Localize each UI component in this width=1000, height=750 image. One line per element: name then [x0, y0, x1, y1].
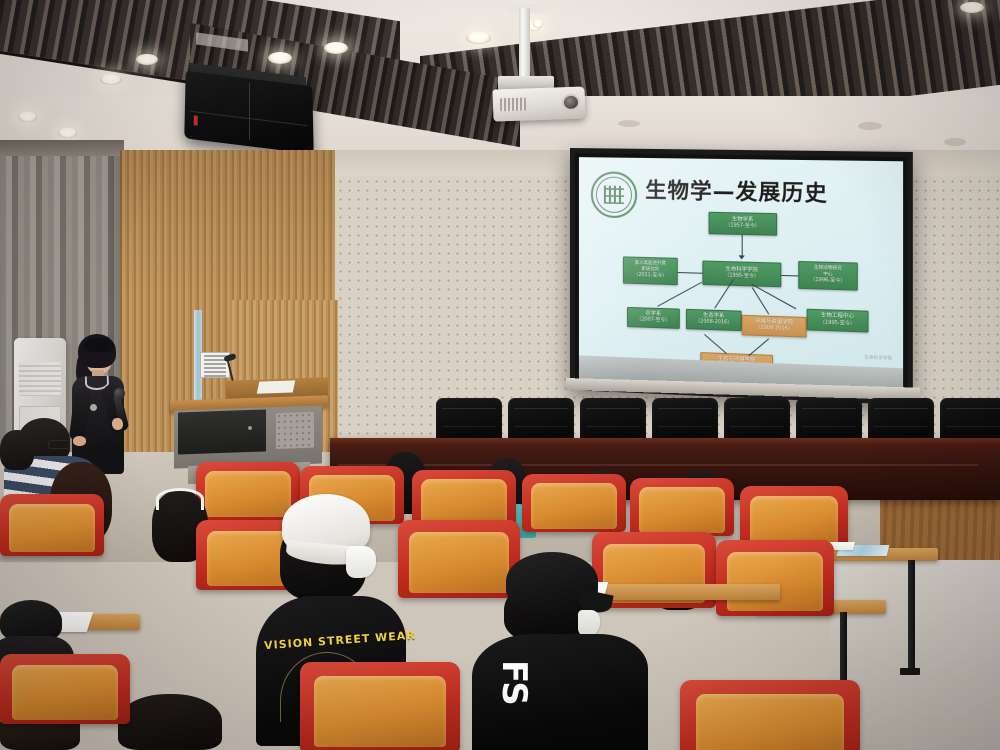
downlight-icon [533, 20, 543, 28]
presenter-badge [90, 404, 97, 411]
podium [170, 377, 328, 475]
projection-screen: 生物学—发展历史 生物学系 （1957-至今） 生命科学学院 （1995-至今）… [570, 148, 913, 405]
auditorium-seat [522, 474, 626, 532]
diagram-node-n6: 生态学系 （2008-2016） [686, 309, 742, 331]
auditorium-seat [630, 478, 734, 536]
downlight-icon [100, 74, 122, 85]
diagram-node-n7: 环境与资源学院 （2008-2016） [742, 315, 807, 338]
node-years: （2007-至今） [637, 318, 671, 326]
diagram-node-n1: 生物学系 （1957-至今） [709, 212, 778, 236]
node-label: 生物动物研究 中心 [814, 265, 842, 279]
arrow-n6-n9 [704, 334, 727, 354]
projector-pole [519, 8, 530, 80]
node-years: （1995-至今） [820, 320, 855, 328]
arrow-n5-n2 [657, 282, 702, 307]
arrow-n4-n2 [781, 275, 798, 277]
audience-member-a1b [0, 430, 34, 470]
audience-member-a2b [400, 455, 440, 505]
slide-credit: 生命科学学院 [864, 354, 892, 361]
arrow-n3-n2 [678, 272, 703, 274]
audience-member-a7: FS [482, 548, 642, 750]
downlight-icon [58, 128, 77, 138]
downlight-icon [18, 112, 37, 122]
projector-lens [562, 94, 581, 112]
ceiling-fixture-icon [858, 122, 882, 130]
lecture-hall-photo: 生物学—发展历史 生物学系 （1957-至今） 生命科学学院 （1995-至今）… [0, 0, 1000, 750]
node-years: （2008-2016） [695, 320, 732, 328]
downlight-icon [960, 2, 984, 13]
auditorium-seat [0, 654, 130, 724]
downlight-icon [268, 52, 292, 64]
node-years: （1995-至今） [724, 274, 758, 282]
node-years: （2008-2016） [755, 326, 792, 334]
auditorium-seat [680, 680, 860, 750]
face-mask-icon [346, 546, 376, 578]
ceiling [0, 0, 1000, 160]
headband-icon [156, 488, 204, 510]
node-years: （2011-至今） [633, 273, 667, 281]
diagram-node-n5: 农学系 （2007-至今） [627, 307, 680, 329]
downlight-icon [324, 42, 348, 54]
projector-icon [492, 86, 585, 121]
auditorium-seat [0, 494, 104, 556]
curtain-rail [0, 140, 124, 156]
node-years: （1996-至今） [810, 278, 845, 286]
arrow-n1-n2 [742, 235, 743, 258]
diagram-node-n4: 生物动物研究 中心 （1996-至今） [798, 261, 858, 291]
auditorium-seat [300, 662, 460, 750]
ceiling-fixture-icon [618, 120, 640, 127]
podium-paper [257, 380, 296, 393]
shirt-graphic-text: FS [494, 660, 534, 704]
podium-control-panel [276, 412, 314, 449]
face-mask-icon [578, 610, 600, 636]
slide-title: 生物学—发展历史 [645, 174, 828, 208]
auditorium-seat [740, 486, 848, 548]
downlight-icon [466, 32, 491, 44]
auditorium-seat [716, 540, 834, 616]
presenter-left-hand [73, 436, 86, 446]
diagram-node-n3: 富人高层进升管 新研究所 （2011-至今） [623, 256, 678, 285]
audience-member-front-left [118, 694, 222, 750]
node-years: （1957-至今） [726, 224, 760, 232]
desk-foot [900, 668, 920, 675]
downlight-icon [136, 54, 158, 65]
podium-front-panel [178, 409, 266, 454]
diagram-node-n8: 生物工程中心 （1995-至今） [807, 309, 869, 333]
desk-leg [908, 560, 915, 672]
glasses-icon [48, 440, 70, 449]
diagram-node-n2: 生命科学学院 （1995-至今） [702, 261, 781, 288]
arrowhead-n1-n2 [739, 255, 745, 259]
hair [0, 430, 34, 470]
ceiling-fixture-icon [944, 138, 966, 146]
presenter-fringe [84, 338, 114, 352]
hair [118, 694, 222, 750]
presentation-slide: 生物学—发展历史 生物学系 （1957-至今） 生命科学学院 （1995-至今）… [579, 157, 903, 395]
